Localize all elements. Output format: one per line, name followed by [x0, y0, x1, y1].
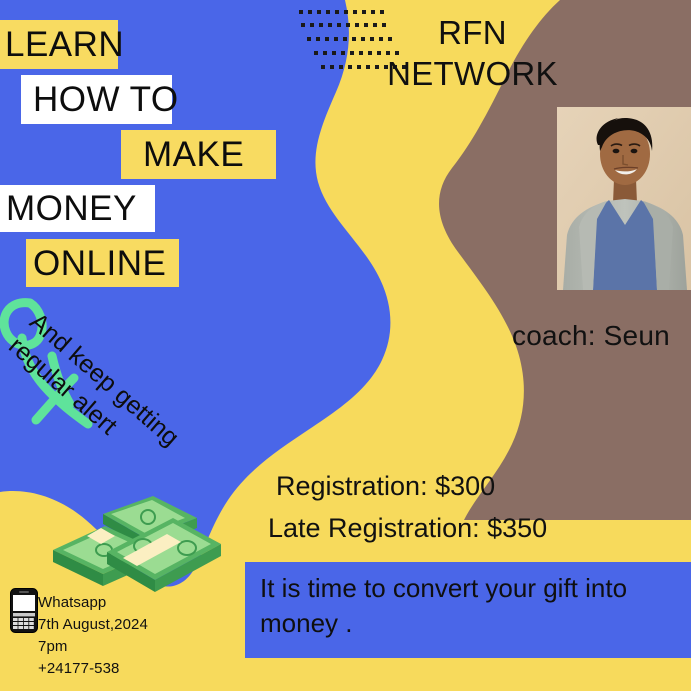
contact-time: 7pm	[38, 636, 148, 658]
brand-title: RFN NETWORK	[385, 12, 560, 95]
coach-portrait-photo	[557, 107, 691, 290]
brand-line-2: NETWORK	[385, 53, 560, 94]
contact-channel: Whatsapp	[38, 592, 148, 614]
mobile-phone-icon	[10, 588, 38, 633]
headline-line-money: MONEY	[0, 185, 155, 232]
pricing-block: Registration: $300 Late Registration: $3…	[276, 466, 616, 550]
headline-line-how-to: HOW TO	[21, 75, 172, 124]
brand-line-1: RFN	[385, 12, 560, 53]
poster-canvas: LEARN HOW TO MAKE MONEY ONLINE RFN NETWO…	[0, 0, 691, 691]
headline-text: HOW TO	[33, 82, 179, 117]
cash-stack-icon	[45, 492, 225, 602]
callout-banner: It is time to convert your gift into mon…	[245, 562, 691, 658]
headline-line-make: MAKE	[121, 130, 276, 179]
coach-name-label: coach: Seun	[512, 320, 670, 352]
headline-line-learn: LEARN	[0, 20, 118, 69]
headline-text: MONEY	[6, 191, 137, 226]
price-registration: Registration: $300	[276, 466, 616, 508]
headline-text: MAKE	[143, 137, 244, 172]
contact-date: 7th August,2024	[38, 614, 148, 636]
headline-text: ONLINE	[33, 246, 166, 281]
contact-block: Whatsapp 7th August,2024 7pm +24177-538	[38, 592, 148, 680]
callout-text: It is time to convert your gift into mon…	[260, 571, 670, 641]
price-late-registration: Late Registration: $350	[268, 508, 616, 550]
headline-text: LEARN	[5, 27, 124, 62]
coach-name-text: coach: Seun	[512, 320, 670, 351]
contact-phone[interactable]: +24177-538	[38, 658, 148, 680]
headline-line-online: ONLINE	[26, 239, 179, 287]
